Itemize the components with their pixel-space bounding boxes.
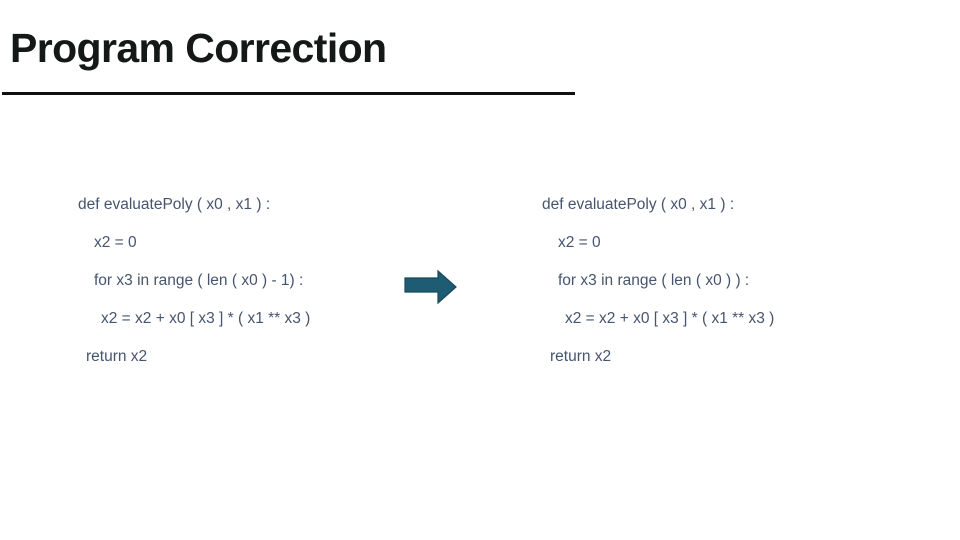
code-line: x2 = 0 xyxy=(542,224,774,262)
code-line: x2 = x2 + x0 [ x3 ] * ( x1 ** x3 ) xyxy=(78,300,310,338)
code-line: for x3 in range ( len ( x0 ) - 1) : xyxy=(78,262,310,300)
code-line: def evaluatePoly ( x0 , x1 ) : xyxy=(542,186,774,224)
code-line: for x3 in range ( len ( x0 ) ) : xyxy=(542,262,774,300)
code-line: def evaluatePoly ( x0 , x1 ) : xyxy=(78,186,310,224)
title-divider xyxy=(2,92,575,95)
right-arrow-icon xyxy=(398,266,462,308)
slide-canvas: Program Correction def evaluatePoly ( x0… xyxy=(0,0,960,540)
page-title: Program Correction xyxy=(10,26,387,72)
code-line: return x2 xyxy=(542,338,774,376)
code-line: x2 = 0 xyxy=(78,224,310,262)
code-line: x2 = x2 + x0 [ x3 ] * ( x1 ** x3 ) xyxy=(542,300,774,338)
code-line: return x2 xyxy=(78,338,310,376)
code-block-before: def evaluatePoly ( x0 , x1 ) : x2 = 0 fo… xyxy=(78,186,310,376)
code-block-after: def evaluatePoly ( x0 , x1 ) : x2 = 0 fo… xyxy=(542,186,774,376)
